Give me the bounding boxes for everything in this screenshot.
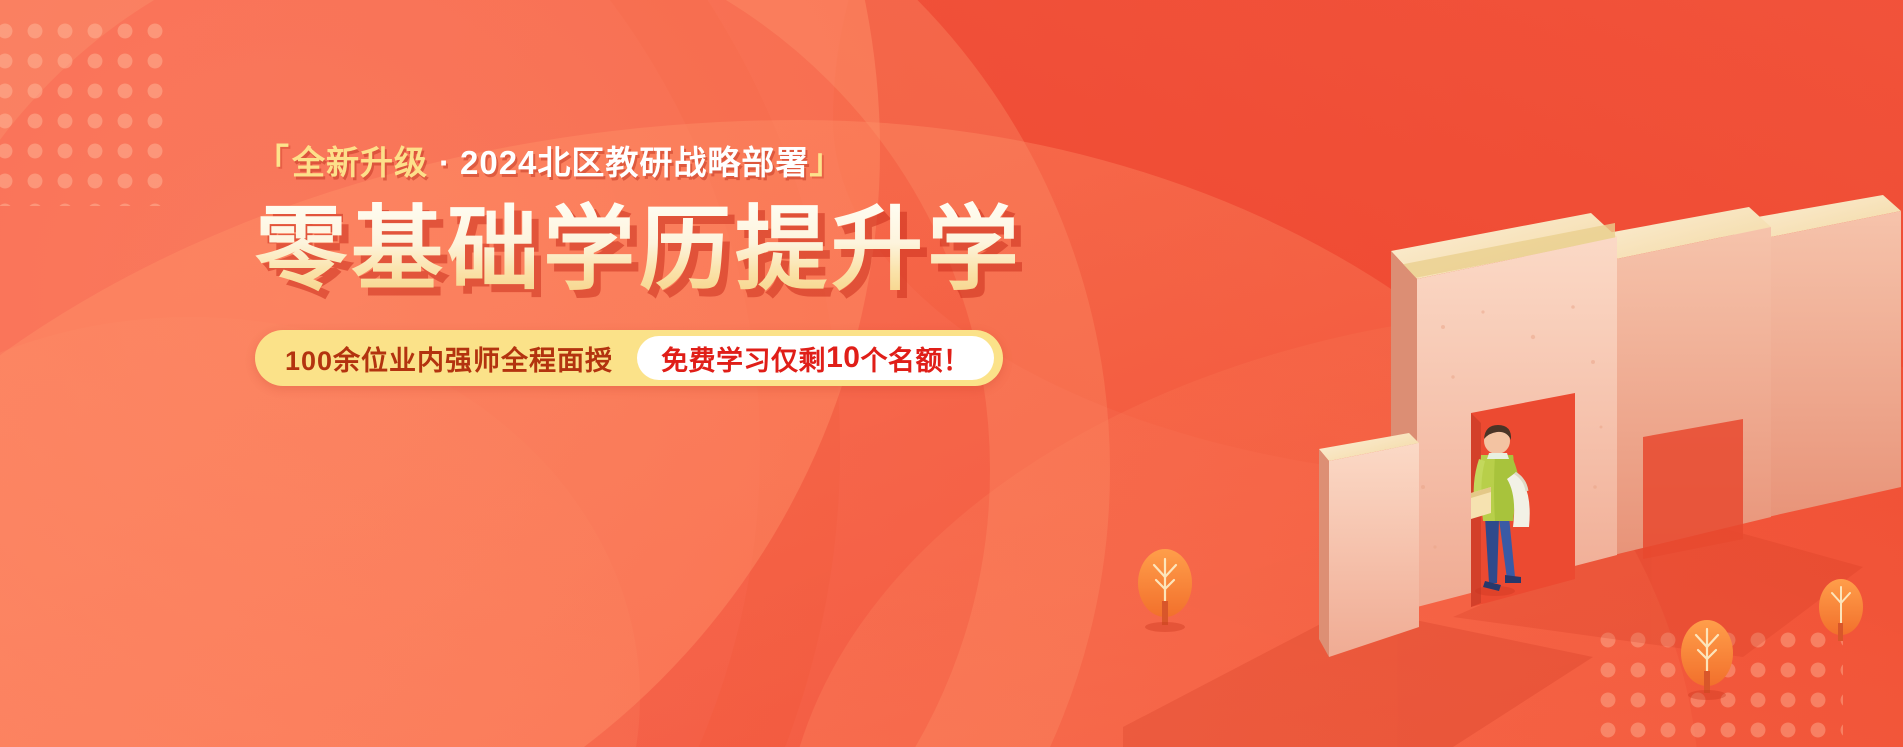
- pill-right-suffix: 个名额！: [860, 339, 970, 378]
- book-arch-1: [1319, 433, 1419, 657]
- pill-remaining-count: 10: [826, 341, 860, 375]
- subtitle-highlight: 全新升级: [290, 146, 430, 179]
- bracket-open-icon: 「: [255, 145, 290, 179]
- book-arches-illustration: [1123, 187, 1903, 747]
- tree-far-right: [1819, 579, 1863, 641]
- tree-right: [1681, 620, 1733, 700]
- pill-left-label: 100余位业内强师全程面授: [285, 339, 637, 378]
- banner-subtitle: 「 全新升级 · 2024北区教研战略部署 」: [255, 145, 1015, 179]
- tree-left: [1138, 549, 1192, 632]
- highlight-pill: 100余位业内强师全程面授 免费学习仅剩10个名额！: [255, 330, 1003, 386]
- page-title: 零基础学历提升学霸班: [255, 201, 1015, 300]
- banner-text-block: 「 全新升级 · 2024北区教研战略部署 」 零基础学历提升学霸班 100余位…: [255, 145, 1015, 386]
- subtitle-rest: 2024北区教研战略部署: [460, 146, 809, 179]
- dot-pattern-top-left: [0, 16, 176, 206]
- pill-right-badge: 免费学习仅剩10个名额！: [637, 336, 994, 380]
- bracket-close-icon: 」: [809, 145, 844, 179]
- pill-right-prefix: 免费学习仅剩: [661, 339, 826, 378]
- subtitle-separator: ·: [430, 146, 460, 179]
- promo-banner: 「 全新升级 · 2024北区教研战略部署 」 零基础学历提升学霸班 100余位…: [0, 0, 1903, 747]
